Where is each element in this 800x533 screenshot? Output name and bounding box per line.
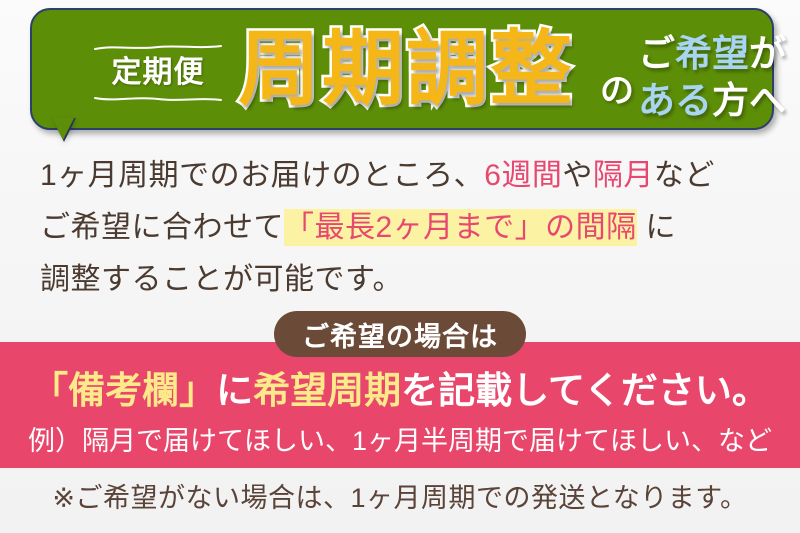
kicker-seg: 希望: [675, 33, 749, 74]
hero-title-particle: の: [600, 63, 634, 112]
body-seg: に: [637, 211, 676, 244]
hero-bubble: 定期便 周期調整 の ご希望が ある方へ: [30, 8, 774, 130]
hero-kicker: ご希望が ある方へ: [638, 30, 798, 124]
footnote: ※ご希望がない場合は、1ヶ月周期での発送となります。: [0, 478, 800, 518]
body-line-1: 1ヶ月周期でのお届けのところ、6週間や隔月など: [40, 150, 770, 202]
body-seg-accent: 6週間: [484, 159, 562, 192]
band-headline-seg: を記載してください。: [401, 370, 769, 411]
highlight-band: 「備考欄」に希望周期を記載してください。 例）隔月で届けてほしい、1ヶ月半周期で…: [0, 342, 800, 468]
body-seg: や: [562, 159, 593, 192]
hero-title: 周期調整: [238, 22, 574, 118]
band-headline: 「備考欄」に希望周期を記載してください。: [0, 367, 800, 415]
band-headline-seg-accent: 「備考欄」: [31, 370, 216, 411]
wave-rule-bottom-icon: [94, 95, 222, 102]
body-highlight: 「最長2ヶ月まで」の間隔: [284, 209, 637, 246]
kicker-seg: 方へ: [712, 80, 786, 121]
band-example-text: 例）隔月で届けてほしい、1ヶ月半周期で届けてほしい、など: [0, 422, 800, 460]
body-line-2: ご希望に合わせて「最長2ヶ月まで」の間隔 に: [40, 202, 770, 254]
condition-badge: ご希望の場合は: [274, 311, 526, 357]
body-seg: 1ヶ月周期でのお届けのところ、: [40, 159, 484, 192]
speech-bubble-tail: [52, 118, 74, 140]
promo-banner: 定期便 周期調整 の ご希望が ある方へ 1ヶ月周期でのお届けのところ、6週間や…: [0, 0, 800, 533]
subscription-label-block: 定期便: [92, 42, 224, 104]
hero-kicker-line-1: ご希望が: [638, 30, 798, 77]
kicker-seg: が: [749, 33, 786, 74]
band-headline-seg: に: [216, 370, 253, 411]
hero-kicker-line-2: ある方へ: [638, 77, 798, 124]
kicker-seg: ご: [638, 33, 675, 74]
body-seg: など: [654, 159, 715, 192]
band-headline-seg-accent: 希望周期: [253, 370, 401, 411]
body-seg: ご希望に合わせて: [40, 211, 284, 244]
wave-rule-top-icon: [94, 44, 222, 51]
kicker-seg: ある: [638, 80, 712, 121]
body-seg-accent: 隔月: [593, 159, 654, 192]
subscription-label: 定期便: [92, 53, 224, 93]
body-line-3: 調整することが可能です。: [40, 254, 770, 306]
condition-badge-label: ご希望の場合は: [302, 315, 498, 354]
body-copy: 1ヶ月周期でのお届けのところ、6週間や隔月など ご希望に合わせて「最長2ヶ月まで…: [40, 150, 770, 306]
